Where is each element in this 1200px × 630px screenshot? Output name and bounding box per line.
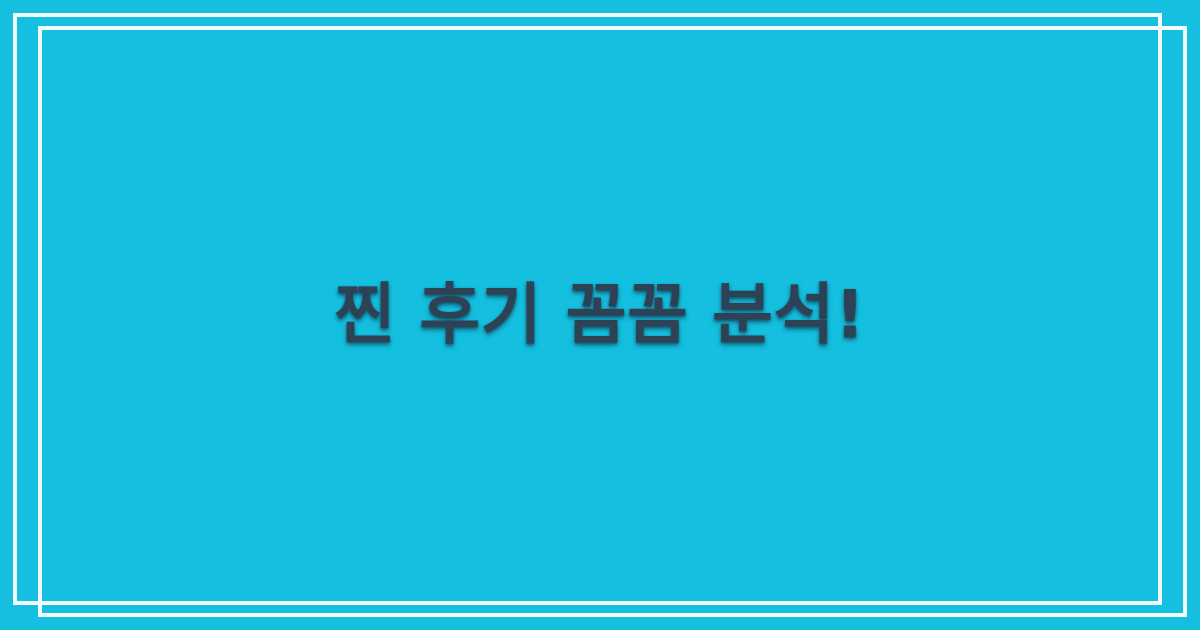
banner-content: 찐 후기 꼼꼼 분석! — [0, 0, 1200, 630]
headline-text: 찐 후기 꼼꼼 분석! — [294, 274, 905, 357]
banner-canvas: 찐 후기 꼼꼼 분석! — [0, 0, 1200, 630]
